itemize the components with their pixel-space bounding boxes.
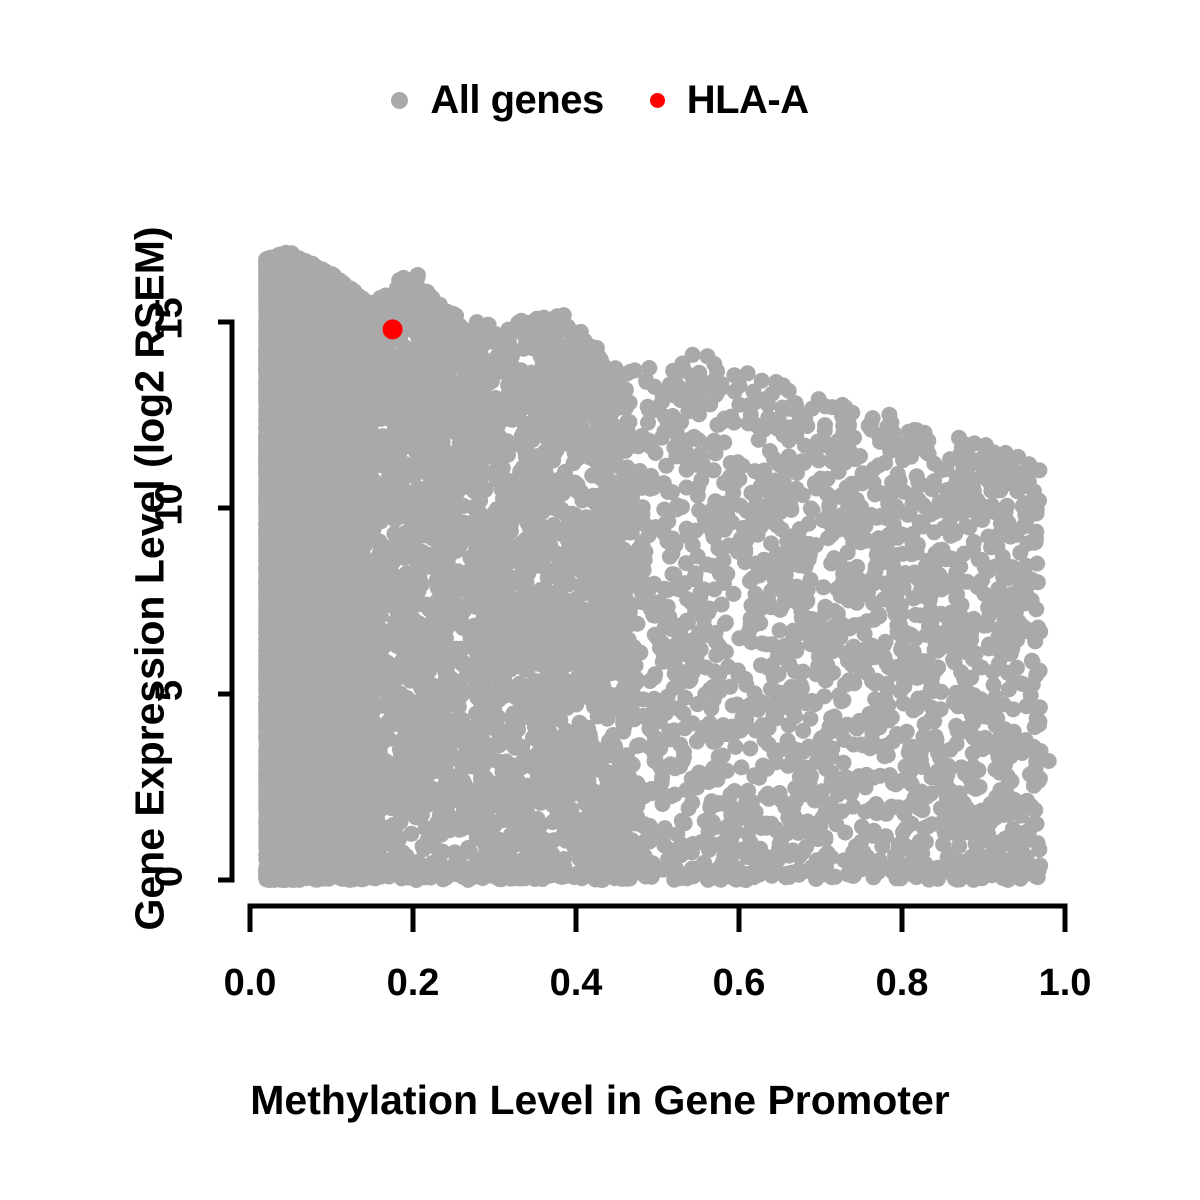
data-point [462, 843, 478, 859]
scatter-plot-canvas [0, 0, 1200, 1200]
data-point [615, 724, 631, 740]
chart-page: All genes HLA-A 0 5 10 15 0.0 0.2 0.4 0.… [0, 0, 1200, 1200]
data-point [731, 630, 747, 646]
data-point [819, 657, 835, 673]
data-point [665, 566, 681, 582]
data-point [1030, 574, 1046, 590]
data-points-layer [258, 245, 1056, 888]
data-point [772, 622, 788, 638]
